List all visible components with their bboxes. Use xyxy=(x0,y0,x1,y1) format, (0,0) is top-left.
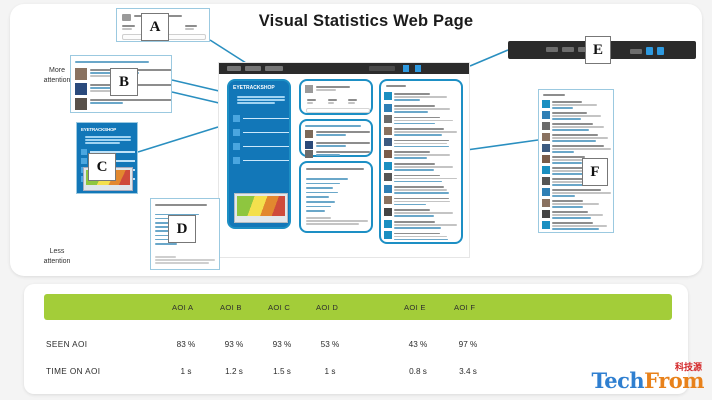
feed-row xyxy=(542,199,612,210)
page-title: Visual Statistics Web Page xyxy=(236,12,496,31)
nav-connect-icon xyxy=(562,47,574,52)
table-cell: 93 % xyxy=(214,340,254,349)
thumb-f-header xyxy=(543,93,565,97)
feed-row xyxy=(542,133,612,144)
feed-row xyxy=(542,111,612,122)
techfrom-watermark: 科技源 TechFrom xyxy=(596,360,708,398)
thumb-d-header xyxy=(155,203,207,207)
table-cell: 0.8 s xyxy=(398,367,438,376)
ad-tagline xyxy=(237,95,285,105)
center-timeline-feed xyxy=(379,79,463,244)
feed-row xyxy=(384,150,454,161)
center-who-to-follow xyxy=(299,119,373,157)
center-webpage-screenshot: EYETRACKSHOP xyxy=(218,62,470,258)
callout-letter-a: A xyxy=(141,13,169,41)
thumb-c-tagline xyxy=(85,135,131,145)
center-trends-card xyxy=(299,161,373,233)
feed-row xyxy=(384,162,454,173)
feed-row xyxy=(384,231,454,242)
nav-home-icon xyxy=(546,47,558,52)
table-row-label: TIME ON AOI xyxy=(46,367,100,376)
statistics-table: SEEN AOI83 %93 %93 %53 %43 %97 %TIME ON … xyxy=(24,284,688,394)
feed-row xyxy=(384,115,454,126)
feed-row xyxy=(384,104,454,115)
table-cell: 1.2 s xyxy=(214,367,254,376)
less-attention-line1: Less xyxy=(22,247,92,257)
nav-search-field[interactable] xyxy=(630,49,642,54)
table-cell: 53 % xyxy=(310,340,350,349)
feed-row xyxy=(542,188,612,199)
callout-letter-b: B xyxy=(110,68,138,96)
feed-row xyxy=(384,127,454,138)
thumb-b-row xyxy=(75,98,169,111)
callout-letter-d: D xyxy=(168,215,196,243)
table-cell: 43 % xyxy=(398,340,438,349)
thumb-c-ad-logo: EYETRACKSHOP xyxy=(81,127,116,132)
feed-row xyxy=(384,138,454,149)
center-ad-column: EYETRACKSHOP xyxy=(227,79,291,229)
feed-row xyxy=(542,122,612,133)
thumb-b-header xyxy=(75,60,149,64)
table-cell: 93 % xyxy=(262,340,302,349)
ad-heatmap-screenshot xyxy=(234,193,288,223)
feed-row xyxy=(542,100,612,111)
table-cell: 1 s xyxy=(166,367,206,376)
watermark-wordmark: TechFrom xyxy=(592,368,704,393)
table-header-bar xyxy=(44,294,672,320)
watermark-from: From xyxy=(644,368,704,393)
feed-row xyxy=(384,220,454,231)
table-column-header: AOI F xyxy=(454,303,475,312)
table-cell: 97 % xyxy=(448,340,488,349)
table-cell: 3.4 s xyxy=(448,367,488,376)
center-profile-card xyxy=(299,79,373,115)
table-column-header: AOI B xyxy=(220,303,242,312)
feed-row xyxy=(384,208,454,219)
feed-row xyxy=(542,221,612,232)
compose-icon xyxy=(122,14,131,21)
table-cell: 83 % xyxy=(166,340,206,349)
table-column-header: AOI D xyxy=(316,303,338,312)
statistics-table-card: SEEN AOI83 %93 %93 %53 %43 %97 %TIME ON … xyxy=(24,284,688,394)
slide-root: Visual Statistics Web Page More attentio… xyxy=(0,0,712,400)
callout-letter-f: F xyxy=(582,158,608,186)
table-column-header: AOI A xyxy=(172,303,193,312)
center-nav-bar xyxy=(219,63,469,74)
nav-compose-icon[interactable] xyxy=(657,47,664,55)
nav-profile-icon[interactable] xyxy=(646,47,653,55)
feed-row xyxy=(384,92,454,103)
label-less-attention: Less attention xyxy=(22,247,92,267)
feed-row xyxy=(542,210,612,221)
table-cell: 1.5 s xyxy=(262,367,302,376)
callout-letter-e: E xyxy=(585,36,611,64)
table-row-label: SEEN AOI xyxy=(46,340,87,349)
thumb-d-footer xyxy=(155,255,215,265)
ad-logo-text: EYETRACKSHOP xyxy=(233,85,275,91)
table-column-header: AOI C xyxy=(268,303,290,312)
less-attention-line2: attention xyxy=(22,257,92,267)
table-column-header: AOI E xyxy=(404,303,426,312)
table-cell: 1 s xyxy=(310,367,350,376)
feed-row xyxy=(384,185,454,196)
feed-row xyxy=(384,173,454,184)
watermark-tech: Tech xyxy=(592,368,645,393)
feed-row xyxy=(384,196,454,207)
feed-row xyxy=(542,144,612,155)
callout-letter-c: C xyxy=(88,153,116,181)
